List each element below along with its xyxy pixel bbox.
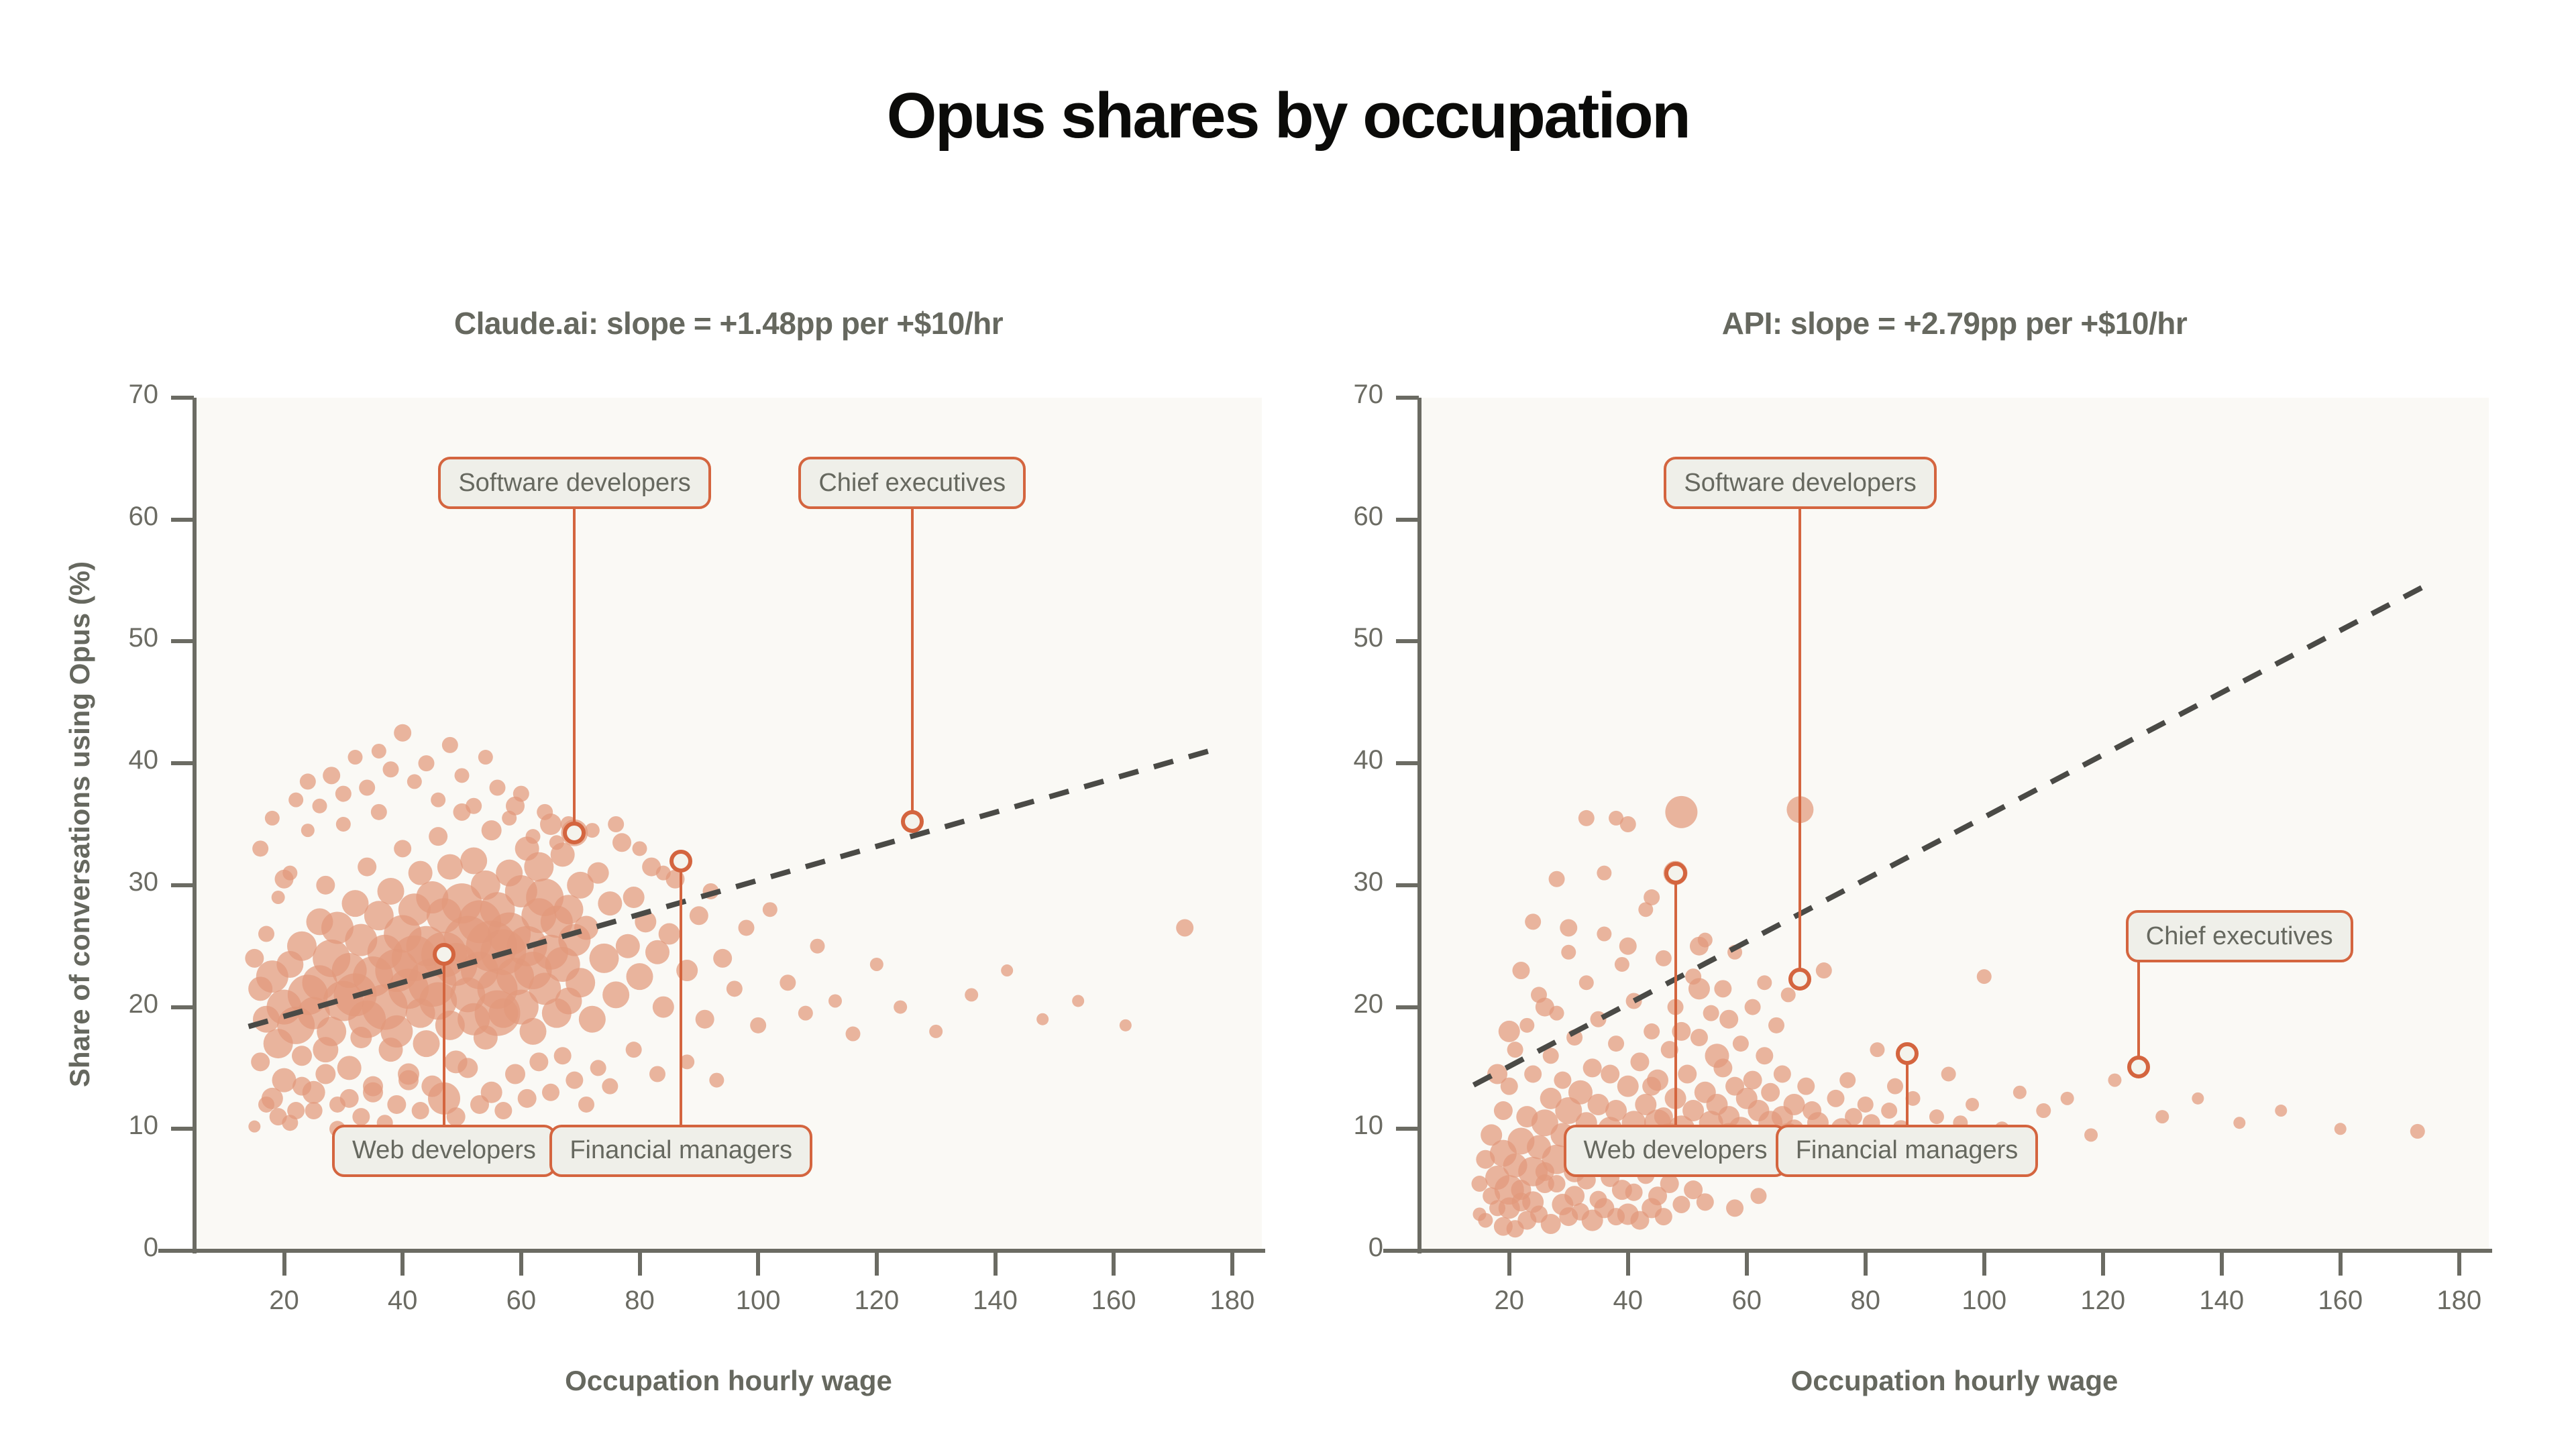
annotation-leader-left-financial-managers — [680, 861, 682, 1151]
annotation-marker-right-chief-executives — [2127, 1056, 2150, 1078]
y-tick-left-40 — [171, 761, 194, 765]
x-tick-label-left-80: 80 — [586, 1286, 694, 1316]
annotation-marker-left-chief-executives — [901, 810, 924, 833]
y-tick-left-30 — [171, 883, 194, 887]
y-tick-right-10 — [1396, 1127, 1419, 1131]
y-tick-left-60 — [171, 518, 194, 522]
x-tick-label-right-60: 60 — [1693, 1286, 1801, 1316]
x-tick-label-right-100: 100 — [1931, 1286, 2038, 1316]
x-axis-title-right: Occupation hourly wage — [1420, 1365, 2489, 1397]
y-tick-right-30 — [1396, 883, 1419, 887]
annotation-marker-right-financial-managers — [1896, 1042, 1919, 1065]
annotation-leader-right-software-developers — [1799, 483, 1801, 979]
x-tick-left-120 — [875, 1253, 879, 1276]
y-tick-label-right-70: 70 — [1279, 380, 1383, 410]
y-tick-right-0 — [1396, 1249, 1419, 1253]
plot-area-right — [1420, 398, 2489, 1251]
annotation-label-left-chief-executives[interactable]: Chief executives — [798, 457, 1026, 509]
y-tick-left-50 — [171, 639, 194, 643]
x-axis-line-left — [158, 1249, 1265, 1253]
x-tick-left-160 — [1112, 1253, 1116, 1276]
x-tick-right-100 — [1982, 1253, 1986, 1276]
subplot-title-left: Claude.ai: slope = +1.48pp per +$10/hr — [195, 305, 1262, 341]
x-tick-label-left-160: 160 — [1060, 1286, 1167, 1316]
annotation-marker-right-web-developers — [1664, 862, 1687, 885]
y-axis-line-right — [1417, 398, 1421, 1253]
annotation-leader-left-web-developers — [443, 954, 445, 1151]
y-tick-label-right-60: 60 — [1279, 502, 1383, 532]
annotation-label-right-web-developers[interactable]: Web developers — [1564, 1125, 1788, 1177]
x-tick-label-right-180: 180 — [2406, 1286, 2513, 1316]
x-tick-right-60 — [1745, 1253, 1749, 1276]
y-tick-label-left-20: 20 — [54, 989, 158, 1019]
annotation-label-right-software-developers[interactable]: Software developers — [1664, 457, 1936, 509]
y-tick-label-right-10: 10 — [1279, 1111, 1383, 1141]
x-tick-label-left-60: 60 — [468, 1286, 575, 1316]
y-tick-label-left-10: 10 — [54, 1111, 158, 1141]
annotation-leader-right-web-developers — [1674, 873, 1677, 1151]
x-tick-right-20 — [1507, 1253, 1511, 1276]
x-tick-right-180 — [2457, 1253, 2461, 1276]
y-tick-left-70 — [171, 396, 194, 400]
y-tick-label-left-60: 60 — [54, 502, 158, 532]
x-tick-left-40 — [400, 1253, 405, 1276]
annotation-label-left-financial-managers[interactable]: Financial managers — [549, 1125, 812, 1177]
x-tick-label-right-120: 120 — [2049, 1286, 2157, 1316]
y-tick-label-right-50: 50 — [1279, 623, 1383, 653]
plot-area-left — [195, 398, 1262, 1251]
annotation-label-left-web-developers[interactable]: Web developers — [332, 1125, 556, 1177]
chart-page: Opus shares by occupation Claude.ai: slo… — [0, 0, 2576, 1456]
y-tick-right-40 — [1396, 761, 1419, 765]
annotation-marker-right-software-developers — [1788, 968, 1811, 991]
x-tick-right-40 — [1626, 1253, 1630, 1276]
x-tick-right-140 — [2220, 1253, 2224, 1276]
y-tick-label-left-70: 70 — [54, 380, 158, 410]
x-tick-label-right-80: 80 — [1812, 1286, 1919, 1316]
y-tick-label-right-30: 30 — [1279, 867, 1383, 897]
x-tick-right-80 — [1864, 1253, 1868, 1276]
x-tick-label-right-160: 160 — [2287, 1286, 2394, 1316]
page-title: Opus shares by occupation — [0, 79, 2576, 153]
y-tick-label-left-30: 30 — [54, 867, 158, 897]
x-tick-label-left-140: 140 — [942, 1286, 1049, 1316]
x-tick-label-right-40: 40 — [1574, 1286, 1682, 1316]
annotation-leader-left-software-developers — [573, 483, 576, 833]
y-tick-label-left-40: 40 — [54, 745, 158, 775]
y-tick-left-0 — [171, 1249, 194, 1253]
x-tick-left-20 — [282, 1253, 286, 1276]
x-tick-left-60 — [519, 1253, 523, 1276]
x-tick-label-left-40: 40 — [349, 1286, 456, 1316]
x-tick-label-left-100: 100 — [704, 1286, 812, 1316]
subplot-title-right: API: slope = +2.79pp per +$10/hr — [1420, 305, 2489, 341]
annotation-label-left-software-developers[interactable]: Software developers — [438, 457, 710, 509]
y-tick-right-70 — [1396, 396, 1419, 400]
x-tick-left-80 — [638, 1253, 642, 1276]
x-tick-left-140 — [994, 1253, 998, 1276]
y-tick-right-20 — [1396, 1005, 1419, 1009]
x-tick-label-left-180: 180 — [1179, 1286, 1286, 1316]
y-tick-label-left-0: 0 — [54, 1233, 158, 1263]
x-tick-label-right-140: 140 — [2168, 1286, 2275, 1316]
x-tick-right-120 — [2101, 1253, 2105, 1276]
x-tick-label-left-120: 120 — [823, 1286, 930, 1316]
annotation-leader-left-chief-executives — [911, 483, 914, 822]
y-tick-label-left-50: 50 — [54, 623, 158, 653]
y-tick-right-50 — [1396, 639, 1419, 643]
y-tick-label-right-20: 20 — [1279, 989, 1383, 1019]
x-axis-title-left: Occupation hourly wage — [195, 1365, 1262, 1397]
y-tick-left-20 — [171, 1005, 194, 1009]
x-tick-label-left-20: 20 — [231, 1286, 338, 1316]
x-tick-left-100 — [756, 1253, 760, 1276]
x-tick-label-right-20: 20 — [1456, 1286, 1563, 1316]
annotation-label-right-financial-managers[interactable]: Financial managers — [1776, 1125, 2039, 1177]
annotation-marker-left-financial-managers — [669, 850, 692, 873]
annotation-marker-left-software-developers — [563, 822, 586, 844]
y-tick-right-60 — [1396, 518, 1419, 522]
y-tick-label-right-0: 0 — [1279, 1233, 1383, 1263]
x-axis-line-right — [1383, 1249, 2492, 1253]
y-tick-label-right-40: 40 — [1279, 745, 1383, 775]
x-tick-right-160 — [2339, 1253, 2343, 1276]
annotation-label-right-chief-executives[interactable]: Chief executives — [2126, 910, 2353, 962]
y-axis-line-left — [193, 398, 197, 1253]
x-tick-left-180 — [1230, 1253, 1234, 1276]
y-tick-left-10 — [171, 1127, 194, 1131]
